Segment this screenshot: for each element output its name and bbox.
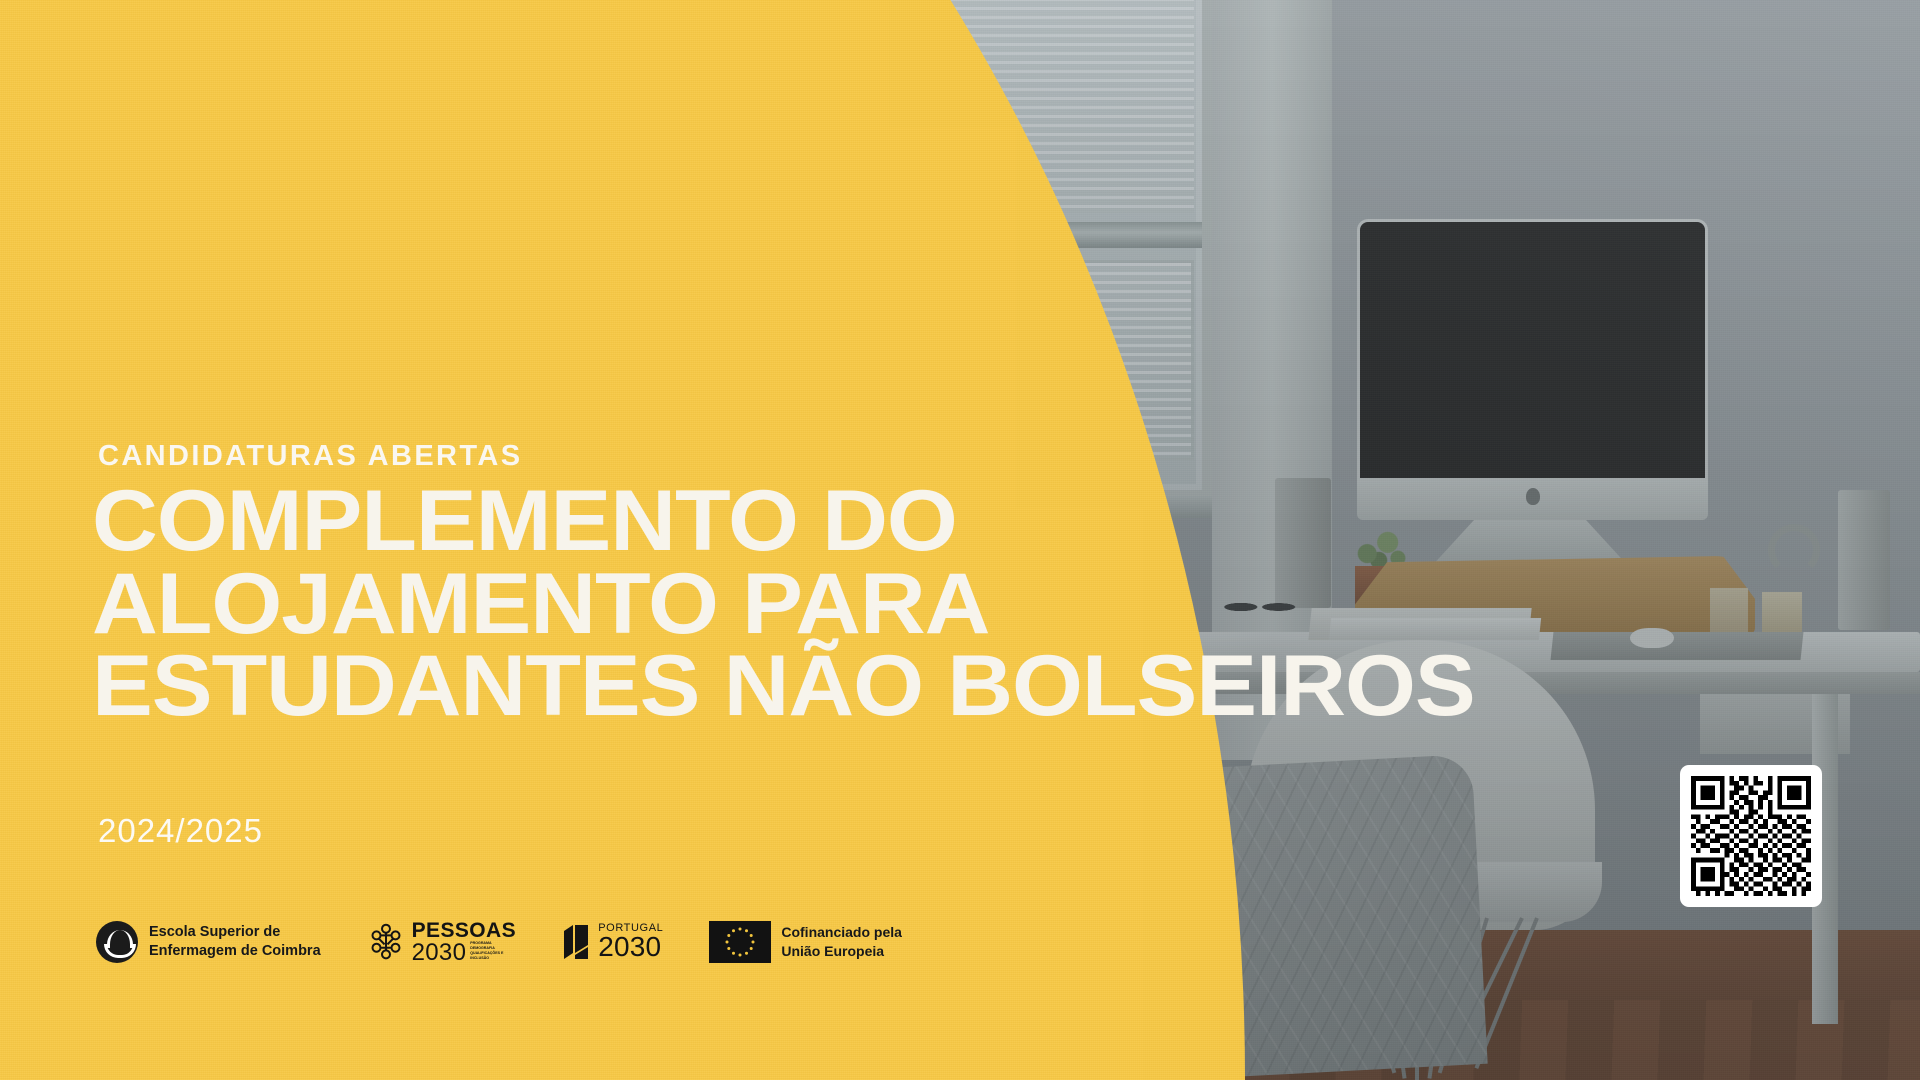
qr-code-card[interactable] [1680, 765, 1822, 907]
esec-line-2: Enfermagem de Coimbra [149, 943, 321, 959]
eu-line-1: Cofinanciado pela [781, 924, 902, 940]
eu-flag-icon [709, 921, 771, 963]
eu-label: Cofinanciado pela União Europeia [781, 923, 902, 961]
headline-line-3: ESTUDANTES NÃO BOLSEIROS [92, 645, 1512, 728]
pessoas-title: PESSOAS [412, 920, 517, 941]
headline-line-2: ALOJAMENTO PARA [92, 563, 1512, 646]
esec-line-1: Escola Superior de [149, 924, 280, 940]
portugal-year: 2030 [598, 933, 663, 961]
pessoas-2030-wordmark: PESSOAS 2030 PROGRAMA DEMOGRAFIA QUALIFI… [412, 920, 517, 965]
logo-esec: Escola Superior de Enfermagem de Coimbra [96, 921, 321, 963]
poster-canvas: CANDIDATURAS ABERTAS COMPLEMENTO DO ALOJ… [0, 0, 1920, 1080]
pessoas-subtitle: PROGRAMA DEMOGRAFIA QUALIFICAÇÕES E INCL… [470, 941, 516, 965]
poster-content: CANDIDATURAS ABERTAS COMPLEMENTO DO ALOJ… [0, 0, 1920, 1080]
logo-strip: Escola Superior de Enfermagem de Coimbra [96, 912, 902, 972]
eu-line-2: União Europeia [781, 943, 884, 959]
pessoas-2030-icon [367, 922, 405, 962]
eu-stars-icon [709, 921, 771, 963]
logo-european-union: Cofinanciado pela União Europeia [709, 921, 902, 963]
portugal-2030-icon [562, 923, 592, 961]
pessoas-year: 2030 [412, 941, 467, 965]
headline-line-1: COMPLEMENTO DO [92, 480, 1512, 563]
logo-pessoas-2030: PESSOAS 2030 PROGRAMA DEMOGRAFIA QUALIFI… [367, 920, 517, 965]
portugal-2030-wordmark: PORTUGAL 2030 [598, 923, 663, 961]
eyebrow-label: CANDIDATURAS ABERTAS [98, 440, 522, 473]
esec-label: Escola Superior de Enfermagem de Coimbra [149, 923, 321, 961]
academic-year-label: 2024/2025 [98, 812, 263, 850]
qr-code[interactable] [1691, 776, 1811, 896]
esec-circle-icon [96, 921, 138, 963]
logo-portugal-2030: PORTUGAL 2030 [562, 923, 663, 961]
page-title: COMPLEMENTO DO ALOJAMENTO PARA ESTUDANTE… [92, 480, 1512, 728]
